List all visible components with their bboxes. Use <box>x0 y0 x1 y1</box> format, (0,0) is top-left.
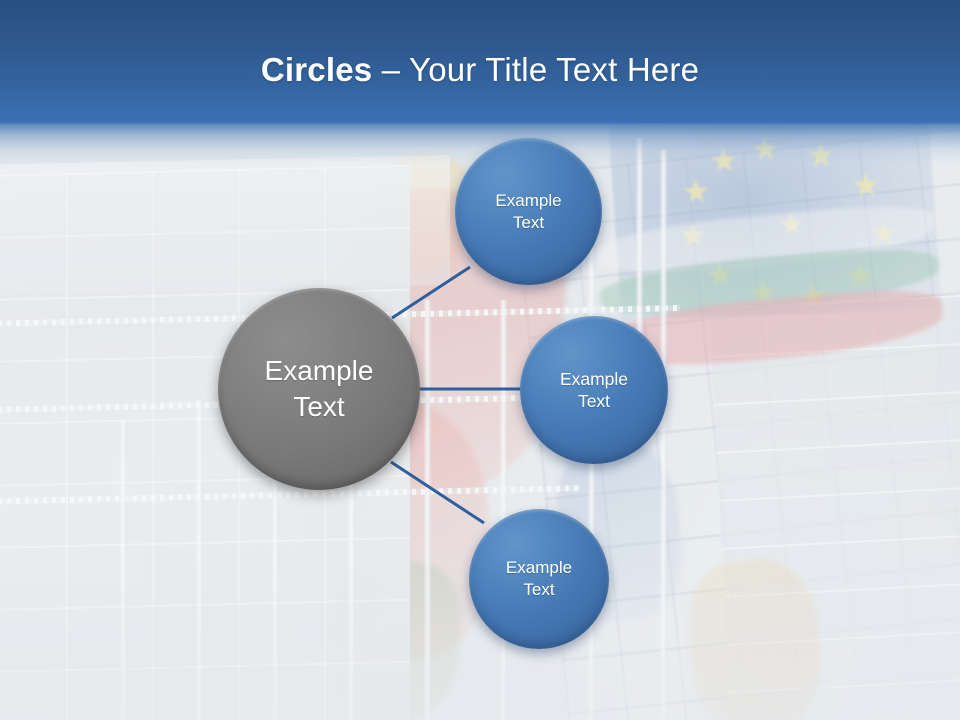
slide-canvas: Circles – Your Title Text Here Example T… <box>0 0 960 720</box>
diagram-node-top[interactable]: Example Text <box>455 138 602 285</box>
connector-center-to-top <box>392 267 470 318</box>
diagram-node-center[interactable]: Example Text <box>218 288 420 490</box>
diagram-node-middle[interactable]: Example Text <box>520 316 668 464</box>
node-bottom-label: Example Text <box>500 557 578 601</box>
node-middle-label: Example Text <box>554 368 634 413</box>
node-center-label: Example Text <box>259 353 380 425</box>
circles-diagram: Example Text Example Text Example Text E… <box>0 0 960 720</box>
node-top-label: Example Text <box>489 190 567 234</box>
diagram-node-bottom[interactable]: Example Text <box>469 509 609 649</box>
connector-center-to-bottom <box>391 462 484 523</box>
